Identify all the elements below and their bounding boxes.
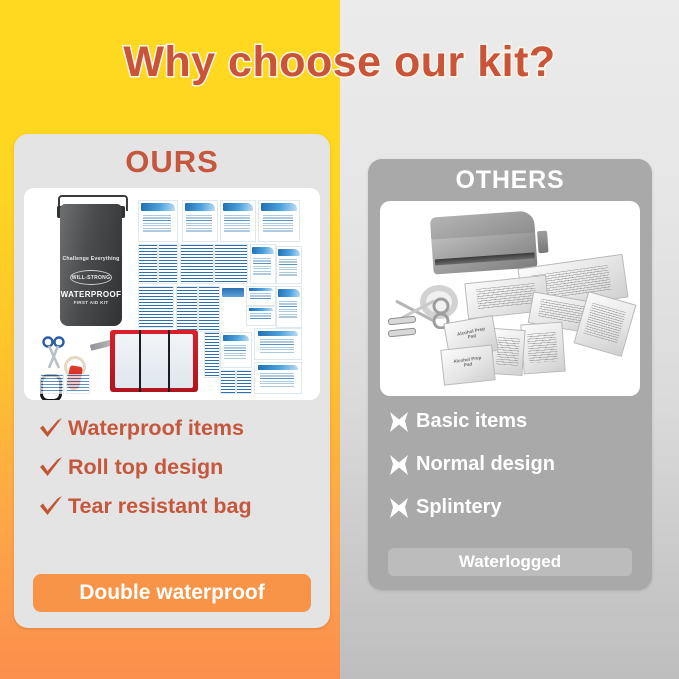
pouch-zip-tab bbox=[537, 231, 549, 254]
gray-pouch bbox=[430, 219, 537, 274]
supply-strip bbox=[198, 286, 220, 332]
packet-print bbox=[476, 283, 537, 310]
alcohol-prep-pad-label: Alcohol Prep Pad bbox=[452, 325, 491, 343]
others-product-image: Alcohol Prep Pad Alcohol Prep Pad bbox=[380, 201, 640, 396]
supply-strip bbox=[158, 244, 178, 284]
supply-packet bbox=[138, 200, 178, 242]
pouch-zipper bbox=[435, 253, 535, 266]
check-icon bbox=[34, 456, 68, 480]
feature-item: Normal design bbox=[382, 453, 652, 476]
supply-packet bbox=[182, 200, 218, 242]
supply-packet bbox=[220, 200, 256, 242]
first-aid-pouch bbox=[110, 330, 198, 392]
packet-print bbox=[496, 337, 520, 366]
alcohol-prep-pad: Alcohol Prep Pad bbox=[440, 344, 495, 385]
supply-strip bbox=[138, 286, 174, 328]
others-card: OTHERS bbox=[368, 159, 652, 590]
ours-heading: OURS bbox=[14, 144, 330, 180]
others-feature-list: Basic items Normal design Splintery bbox=[382, 410, 652, 519]
feature-label: Splintery bbox=[416, 496, 502, 519]
supply-strip bbox=[66, 374, 90, 394]
drybag-firstaid-text: FIRST AID KIT bbox=[60, 300, 122, 305]
supply-packet bbox=[276, 246, 302, 284]
supply-strip bbox=[40, 374, 64, 394]
alcohol-prep-pad-label: Alcohol Prep Pad bbox=[448, 354, 487, 370]
pouch-divider bbox=[139, 330, 141, 392]
feature-item: Basic items bbox=[382, 410, 652, 433]
feature-item: Waterproof items bbox=[34, 416, 330, 441]
others-banner: Waterlogged bbox=[388, 548, 632, 576]
supply-packet bbox=[246, 306, 276, 326]
supply-packet bbox=[220, 332, 252, 368]
comparison-infographic: Why choose our kit? OURS Challenge Every… bbox=[0, 0, 679, 679]
supply-packet bbox=[250, 244, 276, 284]
page-title: Why choose our kit? bbox=[0, 38, 679, 87]
supply-sachet bbox=[222, 288, 244, 297]
feature-item: Roll top design bbox=[34, 455, 330, 480]
supply-strip bbox=[220, 370, 236, 394]
check-icon bbox=[34, 417, 68, 441]
packet-print bbox=[527, 332, 559, 364]
supply-packet bbox=[254, 362, 302, 394]
supply-packet bbox=[254, 328, 302, 360]
supply-strip bbox=[204, 332, 220, 378]
drybag-logo: WILL-STRONG bbox=[70, 270, 112, 285]
drybag-body: Challenge Everything WILL-STRONG WATERPR… bbox=[60, 204, 122, 326]
supply-strip bbox=[236, 370, 252, 394]
feature-item: Tear resistant bag bbox=[34, 494, 330, 519]
supply-strip bbox=[176, 286, 198, 332]
drybag-waterproof-text: WATERPROOF bbox=[60, 290, 122, 299]
feature-label: Roll top design bbox=[68, 455, 223, 480]
cross-icon bbox=[382, 497, 416, 519]
cross-icon bbox=[382, 411, 416, 433]
cross-icon bbox=[382, 454, 416, 476]
feature-label: Tear resistant bag bbox=[68, 494, 252, 519]
pouch-flap bbox=[430, 210, 535, 239]
drybag-slogan: Challenge Everything bbox=[60, 256, 122, 262]
supply-packet bbox=[520, 322, 565, 375]
check-icon bbox=[34, 495, 68, 519]
supply-packet bbox=[276, 286, 302, 328]
feature-label: Basic items bbox=[416, 410, 527, 433]
feature-label: Normal design bbox=[416, 453, 555, 476]
supply-strip bbox=[180, 244, 214, 284]
others-heading: OTHERS bbox=[368, 166, 652, 195]
packet-print bbox=[583, 303, 626, 344]
ours-card: OURS Challenge Everything WILL-STRONG WA… bbox=[14, 134, 330, 628]
pouch-contents bbox=[115, 334, 193, 388]
supply-strip bbox=[214, 244, 248, 284]
supply-packet bbox=[258, 200, 300, 242]
feature-item: Splintery bbox=[382, 496, 652, 519]
ours-feature-list: Waterproof items Roll top design Tear re… bbox=[34, 416, 330, 519]
supply-strip bbox=[138, 244, 158, 284]
ours-banner: Double waterproof bbox=[33, 574, 311, 612]
pouch-divider bbox=[168, 330, 170, 392]
feature-label: Waterproof items bbox=[68, 416, 244, 441]
supply-packet bbox=[246, 286, 276, 306]
ours-product-image: Challenge Everything WILL-STRONG WATERPR… bbox=[24, 188, 320, 400]
safety-pin-icon bbox=[388, 328, 417, 338]
